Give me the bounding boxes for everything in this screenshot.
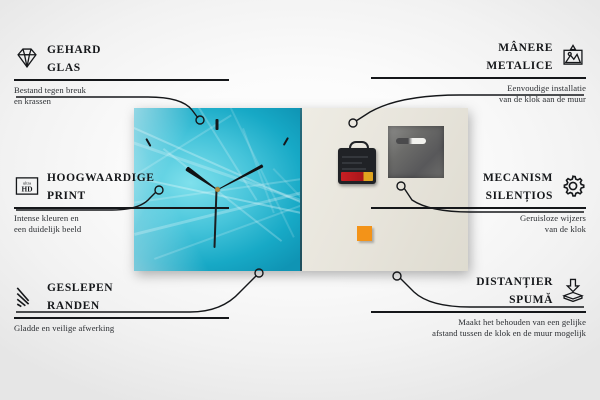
feature-title-2: GLAS	[47, 62, 81, 74]
spacer-arrow-icon	[560, 277, 586, 303]
feature-title: DISTANȚIER	[476, 276, 553, 288]
feature-desc: Maakt het behouden van een gelijke	[371, 317, 586, 328]
divider	[371, 77, 586, 79]
battery	[341, 172, 373, 181]
feature-title: GEHARD	[47, 44, 101, 56]
feature-desc: Bestand tegen breuk	[14, 85, 229, 96]
feature-title-2: METALICE	[486, 60, 553, 72]
divider	[371, 311, 586, 313]
feature-distantier-spuma[interactable]: DISTANȚIER SPUMĂ Maakt het behouden van …	[371, 272, 586, 339]
feature-desc: Intense kleuren en	[14, 213, 229, 224]
diamond-icon	[14, 45, 40, 71]
gear-icon	[560, 173, 586, 199]
divider	[14, 207, 229, 209]
feature-desc-2: en krassen	[14, 96, 229, 107]
divider	[371, 207, 586, 209]
divider	[14, 79, 229, 81]
feature-title-2: RANDEN	[47, 300, 100, 312]
ultra-hd-icon: ultra HD	[14, 173, 40, 199]
feature-title-2: SPUMĂ	[509, 294, 553, 306]
feature-desc-2: van de klok aan de muur	[371, 94, 586, 105]
feature-desc: Gladde en veilige afwerking	[14, 323, 229, 334]
feature-gehard-glas[interactable]: GEHARD GLAS Bestand tegen breuk en krass…	[14, 40, 229, 107]
infographic-stage: GEHARD GLAS Bestand tegen breuk en krass…	[0, 0, 600, 400]
feature-desc: Eenvoudige installatie	[371, 83, 586, 94]
foam-spacer	[357, 226, 372, 241]
feature-hoogwaardige-print[interactable]: ultra HD HOOGWAARDIGE PRINT Intense kleu…	[14, 168, 229, 235]
svg-text:HD: HD	[22, 185, 33, 194]
feature-title-2: SILENȚIOS	[486, 190, 553, 202]
feature-manere-metalice[interactable]: MÂNERE METALICE Eenvoudige installatie v…	[371, 38, 586, 105]
feature-title: HOOGWAARDIGE	[47, 172, 155, 184]
feature-desc: Geruisloze wijzers	[371, 213, 586, 224]
feature-title: MECANISM	[483, 172, 553, 184]
feature-title: GESLEPEN	[47, 282, 113, 294]
feature-desc-2: een duidelijk beeld	[14, 224, 229, 235]
feature-desc-2: van de klok	[371, 224, 586, 235]
divider	[14, 317, 229, 319]
picture-hanger-icon	[560, 43, 586, 69]
feature-geslepen-randen[interactable]: GESLEPEN RANDEN Gladde en veilige afwerk…	[14, 278, 229, 334]
feature-desc-2: afstand tussen de klok en de muur mogeli…	[371, 328, 586, 339]
feature-title-2: PRINT	[47, 190, 86, 202]
feature-title: MÂNERE	[498, 42, 553, 54]
feature-mecanism-silentios[interactable]: MECANISM SILENȚIOS Geruisloze wijzers va…	[371, 168, 586, 235]
beveled-edges-icon	[14, 283, 40, 309]
